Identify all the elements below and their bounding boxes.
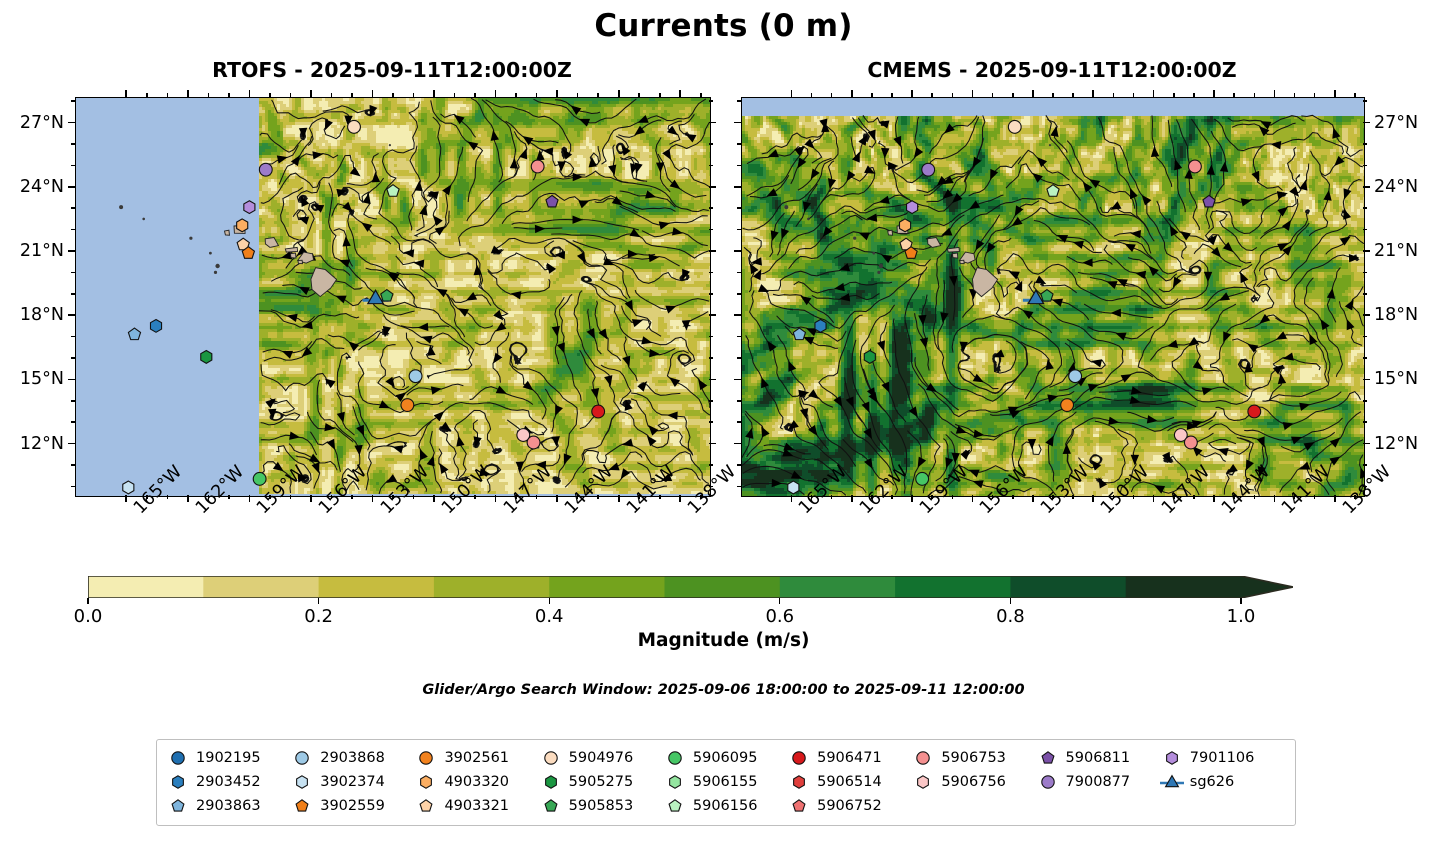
- x-tick-label: 153°W: [377, 504, 391, 518]
- map-marker-5906753: [1189, 160, 1202, 173]
- pentagon-marker-icon: [1037, 748, 1059, 768]
- x-tick-minor: [831, 495, 833, 499]
- x-tick-major: [125, 495, 127, 502]
- x-tick-minor-top: [1012, 93, 1014, 97]
- pentagon-marker-icon: [415, 796, 437, 816]
- y-tick-minor-left: [737, 464, 741, 466]
- map-panel-rtofs[interactable]: [75, 97, 711, 497]
- y-tick-minor-left: [71, 400, 75, 402]
- y-tick-minor-right: [1363, 272, 1367, 274]
- circle-marker-icon: [912, 748, 934, 768]
- legend-entry-3902561[interactable]: 3902561: [415, 748, 539, 768]
- map-marker-5906471: [592, 405, 605, 418]
- y-tick-minor-right: [709, 464, 713, 466]
- x-tick-minor-top: [1254, 93, 1256, 97]
- legend-entry-5906156[interactable]: 5906156: [664, 796, 788, 816]
- map-marker-5905275: [201, 351, 212, 364]
- pentagon-marker-icon: [788, 796, 810, 816]
- colorbar-tick: [318, 598, 319, 604]
- x-tick-minor-top: [811, 93, 813, 97]
- map-marker-5906811: [1203, 195, 1215, 207]
- y-tick-minor-left: [737, 486, 741, 488]
- y-tick-label: 24°N: [1374, 177, 1418, 197]
- y-tick-minor-left: [737, 357, 741, 359]
- colorbar[interactable]: 0.00.20.40.60.81.0: [88, 576, 1293, 598]
- y-tick-minor-right: [1363, 100, 1367, 102]
- x-tick-minor-top: [536, 93, 538, 97]
- x-tick-minor-top: [146, 93, 148, 97]
- legend-label: 3902559: [320, 798, 385, 814]
- hexagon-marker-icon: [540, 772, 562, 792]
- x-tick-major-top: [851, 90, 853, 97]
- y-tick-label: 24°N: [0, 177, 64, 197]
- legend-label: 4903321: [444, 798, 509, 814]
- y-tick-major-left: [68, 443, 75, 445]
- x-tick-label: 147°W: [500, 504, 514, 518]
- y-tick-minor-right: [1363, 421, 1367, 423]
- x-tick-label: 162°W: [856, 504, 870, 518]
- x-tick-major-top: [1274, 90, 1276, 97]
- x-tick-major: [495, 495, 497, 502]
- x-tick-minor-top: [1113, 93, 1115, 97]
- colorbar-tick: [1240, 598, 1241, 604]
- colorbar-tick: [549, 598, 550, 604]
- x-tick-label: 165°W: [130, 504, 144, 518]
- y-tick-minor-right: [1363, 357, 1367, 359]
- y-tick-label: 27°N: [1374, 113, 1418, 133]
- map-marker-5906095: [916, 472, 929, 485]
- x-tick-minor-top: [208, 93, 210, 97]
- y-tick-minor-left: [71, 143, 75, 145]
- x-tick-minor-top: [597, 93, 599, 97]
- x-tick-major: [851, 495, 853, 502]
- legend-entry-5906095[interactable]: 5906095: [664, 748, 788, 768]
- x-tick-major-top: [1334, 90, 1336, 97]
- circle-marker-icon: [664, 748, 686, 768]
- map-marker-2903452: [815, 319, 826, 332]
- legend-label: 5906753: [941, 750, 1006, 766]
- y-tick-minor-left: [737, 207, 741, 209]
- map-marker-2903868: [1069, 370, 1082, 383]
- x-tick-major-top: [972, 90, 974, 97]
- y-tick-minor-right: [1363, 486, 1367, 488]
- hexagon-marker-icon: [788, 772, 810, 792]
- x-tick-minor: [413, 495, 415, 499]
- x-tick-minor: [146, 495, 148, 499]
- x-tick-minor: [536, 495, 538, 499]
- y-tick-major-right: [709, 250, 716, 252]
- map-marker-7901106: [907, 201, 918, 214]
- y-tick-minor-right: [709, 421, 713, 423]
- x-tick-minor: [1113, 495, 1115, 499]
- legend-entry-5906811[interactable]: 5906811: [1037, 748, 1161, 768]
- map-marker-5904976: [348, 120, 361, 133]
- y-tick-minor-right: [709, 143, 713, 145]
- x-tick-minor-top: [891, 93, 893, 97]
- y-tick-label: 12°N: [1374, 434, 1418, 454]
- legend-entry-5905853[interactable]: 5905853: [540, 796, 664, 816]
- x-tick-minor-top: [992, 93, 994, 97]
- x-tick-minor: [454, 495, 456, 499]
- x-tick-minor-top: [1233, 93, 1235, 97]
- map-marker-4903320: [900, 219, 911, 232]
- legend-label: 5906156: [693, 798, 758, 814]
- colorbar-tick: [1010, 598, 1011, 604]
- x-tick-major: [679, 495, 681, 502]
- circle-marker-icon: [167, 748, 189, 768]
- y-tick-minor-right: [709, 165, 713, 167]
- colorbar-tick-label: 0.6: [765, 606, 794, 627]
- y-tick-major-left: [734, 443, 741, 445]
- marker-legend[interactable]: 1902195290345229038632903868390237439025…: [156, 739, 1296, 826]
- map-marker-7900877: [922, 163, 935, 176]
- panel-title-cmems: CMEMS - 2025-09-11T12:00:00Z: [741, 58, 1363, 82]
- x-tick-minor-top: [228, 93, 230, 97]
- y-tick-minor-right: [709, 357, 713, 359]
- circle-marker-icon: [1037, 772, 1059, 792]
- x-tick-minor: [331, 495, 333, 499]
- y-tick-major-left: [734, 379, 741, 381]
- legend-label: 5905275: [569, 774, 634, 790]
- map-marker-5906156: [1047, 185, 1059, 197]
- legend-entry-5906514[interactable]: 5906514: [788, 772, 912, 792]
- x-tick-major: [1274, 495, 1276, 502]
- x-tick-minor-top: [1294, 93, 1296, 97]
- x-tick-minor: [351, 495, 353, 499]
- legend-entry-2903452[interactable]: 2903452: [167, 772, 291, 792]
- legend-entry-5906752[interactable]: 5906752: [788, 796, 912, 816]
- y-tick-label: 21°N: [1374, 241, 1418, 261]
- map-marker-2903868: [409, 370, 422, 383]
- y-tick-major-left: [68, 379, 75, 381]
- map-marker-5906753: [527, 436, 540, 449]
- x-tick-minor: [1254, 495, 1256, 499]
- y-tick-minor-left: [71, 464, 75, 466]
- x-tick-label: 156°W: [315, 504, 329, 518]
- y-tick-minor-left: [737, 272, 741, 274]
- x-tick-minor: [931, 495, 933, 499]
- x-tick-minor-top: [392, 93, 394, 97]
- x-tick-minor: [577, 495, 579, 499]
- legend-entry-5906753[interactable]: 5906753: [912, 748, 1036, 768]
- y-tick-minor-right: [1363, 207, 1367, 209]
- x-tick-label: 150°W: [1097, 504, 1111, 518]
- x-tick-label: 165°W: [795, 504, 809, 518]
- x-tick-label: 153°W: [1037, 504, 1051, 518]
- x-tick-minor: [1012, 495, 1014, 499]
- y-tick-minor-left: [71, 486, 75, 488]
- x-tick-major-top: [1092, 90, 1094, 97]
- y-tick-label: 21°N: [0, 241, 64, 261]
- map-marker-5905275: [864, 351, 875, 364]
- colorbar-gradient: [88, 576, 1293, 598]
- x-tick-minor: [474, 495, 476, 499]
- y-tick-minor-left: [71, 336, 75, 338]
- circle-marker-icon: [291, 748, 313, 768]
- legend-entry-4903321[interactable]: 4903321: [415, 796, 539, 816]
- x-tick-minor: [1354, 495, 1356, 499]
- legend-entry-4903320[interactable]: 4903320: [415, 772, 539, 792]
- x-tick-minor: [1173, 495, 1175, 499]
- map-marker-2903452: [150, 319, 161, 332]
- x-tick-minor: [167, 495, 169, 499]
- colorbar-tick: [87, 598, 88, 604]
- y-tick-minor-right: [709, 400, 713, 402]
- x-tick-minor-top: [871, 93, 873, 97]
- x-tick-major: [618, 495, 620, 502]
- y-tick-minor-left: [737, 400, 741, 402]
- x-tick-major: [1092, 495, 1094, 502]
- map-marker-5905853: [1041, 290, 1053, 302]
- y-tick-minor-left: [71, 272, 75, 274]
- legend-label: 5905853: [569, 798, 634, 814]
- y-tick-minor-left: [71, 229, 75, 231]
- y-tick-label: 15°N: [0, 369, 64, 389]
- x-tick-minor: [515, 495, 517, 499]
- search-window-note: Glider/Argo Search Window: 2025-09-06 18…: [0, 682, 1447, 698]
- legend-label: 3902374: [320, 774, 385, 790]
- legend-entry-1902195[interactable]: 1902195: [167, 748, 291, 768]
- x-tick-minor-top: [515, 93, 517, 97]
- x-tick-label: 141°W: [1278, 504, 1292, 518]
- x-tick-minor-top: [638, 93, 640, 97]
- map-panel-cmems[interactable]: [741, 97, 1365, 497]
- legend-label: 5906811: [1066, 750, 1131, 766]
- legend-label: 7900877: [1066, 774, 1131, 790]
- legend-entry-2903863[interactable]: 2903863: [167, 796, 291, 816]
- map-marker-5906811: [546, 195, 558, 207]
- legend-label: 5906752: [817, 798, 882, 814]
- y-tick-minor-right: [709, 229, 713, 231]
- pentagon-marker-icon: [664, 796, 686, 816]
- x-tick-minor-top: [577, 93, 579, 97]
- x-tick-minor: [952, 495, 954, 499]
- y-tick-minor-left: [737, 421, 741, 423]
- y-tick-label: 18°N: [0, 305, 64, 325]
- x-tick-major: [556, 495, 558, 502]
- legend-label: 2903452: [196, 774, 261, 790]
- x-tick-major: [1032, 495, 1034, 502]
- colorbar-tick-label: 0.0: [74, 606, 103, 627]
- y-tick-major-right: [709, 122, 716, 124]
- x-tick-major: [1213, 495, 1215, 502]
- y-tick-minor-right: [1363, 143, 1367, 145]
- x-tick-minor-top: [952, 93, 954, 97]
- y-tick-minor-right: [709, 100, 713, 102]
- x-tick-minor-top: [1133, 93, 1135, 97]
- x-tick-minor-top: [931, 93, 933, 97]
- y-tick-minor-right: [709, 336, 713, 338]
- colorbar-label: Magnitude (m/s): [0, 630, 1447, 651]
- x-tick-major: [1334, 495, 1336, 502]
- colorbar-tick-label: 0.4: [535, 606, 564, 627]
- legend-entry-5905275[interactable]: 5905275: [540, 772, 664, 792]
- y-tick-minor-right: [709, 272, 713, 274]
- map-marker-5906095: [253, 472, 266, 485]
- legend-entry-5906471[interactable]: 5906471: [788, 748, 912, 768]
- legend-label: 3902561: [444, 750, 509, 766]
- legend-label: 5906471: [817, 750, 882, 766]
- y-tick-minor-right: [1363, 400, 1367, 402]
- x-tick-minor: [208, 495, 210, 499]
- legend-grid: 1902195290345229038632903868390237439025…: [167, 748, 1285, 816]
- x-tick-minor: [290, 495, 292, 499]
- legend-label: 4903320: [444, 774, 509, 790]
- y-tick-minor-right: [709, 207, 713, 209]
- y-tick-minor-left: [737, 293, 741, 295]
- x-tick-major-top: [187, 90, 189, 97]
- x-tick-major-top: [556, 90, 558, 97]
- x-tick-minor-top: [454, 93, 456, 97]
- x-tick-minor-top: [1052, 93, 1054, 97]
- legend-entry-2903868[interactable]: 2903868: [291, 748, 415, 768]
- hexagon-marker-icon: [1161, 748, 1183, 768]
- x-tick-minor: [871, 495, 873, 499]
- y-tick-minor-right: [709, 293, 713, 295]
- legend-entry-5906155[interactable]: 5906155: [664, 772, 788, 792]
- hexagon-marker-icon: [415, 772, 437, 792]
- x-tick-major-top: [791, 90, 793, 97]
- x-tick-major-top: [433, 90, 435, 97]
- map-marker-2903863: [793, 328, 805, 340]
- circle-marker-icon: [415, 748, 437, 768]
- pentagon-marker-icon: [291, 796, 313, 816]
- y-tick-major-left: [734, 122, 741, 124]
- y-tick-major-left: [734, 186, 741, 188]
- y-tick-minor-left: [71, 357, 75, 359]
- map-marker-5906753: [1184, 436, 1197, 449]
- map-marker-3902374: [123, 481, 134, 494]
- y-tick-major-left: [68, 186, 75, 188]
- x-tick-label: 138°W: [684, 504, 698, 518]
- x-tick-major: [972, 495, 974, 502]
- x-tick-label: 138°W: [1339, 504, 1353, 518]
- x-tick-minor-top: [331, 93, 333, 97]
- legend-label: 2903863: [196, 798, 261, 814]
- colorbar-tick-label: 0.2: [304, 606, 333, 627]
- y-tick-minor-left: [71, 100, 75, 102]
- map-marker-5906156: [387, 185, 399, 197]
- figure-title: Currents (0 m): [0, 8, 1447, 44]
- y-tick-minor-left: [737, 143, 741, 145]
- y-tick-major-right: [709, 443, 716, 445]
- y-tick-minor-right: [709, 486, 713, 488]
- x-tick-label: 141°W: [623, 504, 637, 518]
- y-tick-label: 15°N: [1374, 369, 1418, 389]
- y-tick-minor-left: [737, 165, 741, 167]
- legend-entry-5904976[interactable]: 5904976: [540, 748, 664, 768]
- map-marker-2903863: [128, 328, 140, 340]
- map-marker-7900877: [259, 163, 272, 176]
- x-tick-major-top: [911, 90, 913, 97]
- x-tick-label: 159°W: [253, 504, 267, 518]
- y-tick-label: 18°N: [1374, 305, 1418, 325]
- x-tick-major-top: [495, 90, 497, 97]
- marker-overlay-cmems[interactable]: [742, 98, 1364, 496]
- y-tick-major-left: [68, 122, 75, 124]
- y-tick-major-left: [68, 250, 75, 252]
- x-tick-minor: [1193, 495, 1195, 499]
- x-tick-minor: [811, 495, 813, 499]
- pentagon-marker-icon: [540, 796, 562, 816]
- y-tick-label: 27°N: [0, 113, 64, 133]
- legend-label: sg626: [1190, 774, 1234, 790]
- y-tick-minor-left: [737, 336, 741, 338]
- hexagon-marker-icon: [291, 772, 313, 792]
- map-marker-5905853: [381, 290, 393, 302]
- x-tick-minor: [269, 495, 271, 499]
- x-tick-minor-top: [700, 93, 702, 97]
- legend-label: 5906095: [693, 750, 758, 766]
- x-tick-label: 147°W: [1158, 504, 1172, 518]
- map-marker-5904976: [1008, 120, 1021, 133]
- marker-overlay-rtofs[interactable]: [76, 98, 710, 496]
- x-tick-major-top: [1213, 90, 1215, 97]
- y-tick-minor-left: [737, 229, 741, 231]
- x-tick-minor-top: [474, 93, 476, 97]
- x-tick-minor: [1133, 495, 1135, 499]
- x-tick-major: [372, 495, 374, 502]
- x-tick-major-top: [1032, 90, 1034, 97]
- hexagon-marker-icon: [912, 772, 934, 792]
- x-tick-minor: [1314, 495, 1316, 499]
- x-tick-minor: [1233, 495, 1235, 499]
- colorbar-tick-label: 0.8: [996, 606, 1025, 627]
- x-tick-minor: [1072, 495, 1074, 499]
- map-marker-4903320: [237, 219, 248, 232]
- pentagon-marker-icon: [167, 796, 189, 816]
- y-tick-major-right: [709, 186, 716, 188]
- y-tick-major-right: [1363, 122, 1370, 124]
- map-marker-5906471: [1248, 405, 1261, 418]
- y-tick-minor-left: [71, 165, 75, 167]
- y-tick-minor-right: [1363, 229, 1367, 231]
- legend-label: 5906756: [941, 774, 1006, 790]
- x-tick-minor-top: [1173, 93, 1175, 97]
- hexagon-marker-icon: [167, 772, 189, 792]
- x-tick-minor: [659, 495, 661, 499]
- x-tick-major-top: [310, 90, 312, 97]
- legend-entry-7901106[interactable]: 7901106: [1161, 748, 1285, 768]
- x-tick-minor: [700, 495, 702, 499]
- legend-label: 1902195: [196, 750, 261, 766]
- x-tick-major: [310, 495, 312, 502]
- legend-entry-7900877[interactable]: 7900877: [1037, 772, 1161, 792]
- legend-label: 5906514: [817, 774, 882, 790]
- y-tick-major-right: [1363, 314, 1370, 316]
- legend-label: 2903868: [320, 750, 385, 766]
- legend-entry-3902374[interactable]: 3902374: [291, 772, 415, 792]
- x-tick-major: [187, 495, 189, 502]
- y-tick-major-right: [709, 314, 716, 316]
- x-tick-minor-top: [659, 93, 661, 97]
- x-tick-minor-top: [1354, 93, 1356, 97]
- y-tick-label: 12°N: [0, 434, 64, 454]
- legend-entry-sg626[interactable]: sg626: [1161, 772, 1285, 792]
- x-tick-minor: [638, 495, 640, 499]
- legend-entry-3902559[interactable]: 3902559: [291, 796, 415, 816]
- x-tick-label: 156°W: [976, 504, 990, 518]
- x-tick-minor: [992, 495, 994, 499]
- y-tick-major-right: [709, 379, 716, 381]
- map-marker-5906753: [531, 160, 544, 173]
- x-tick-minor: [1052, 495, 1054, 499]
- circle-marker-icon: [540, 748, 562, 768]
- x-tick-label: 159°W: [916, 504, 930, 518]
- y-tick-minor-right: [1363, 293, 1367, 295]
- legend-entry-5906756[interactable]: 5906756: [912, 772, 1036, 792]
- x-tick-major-top: [249, 90, 251, 97]
